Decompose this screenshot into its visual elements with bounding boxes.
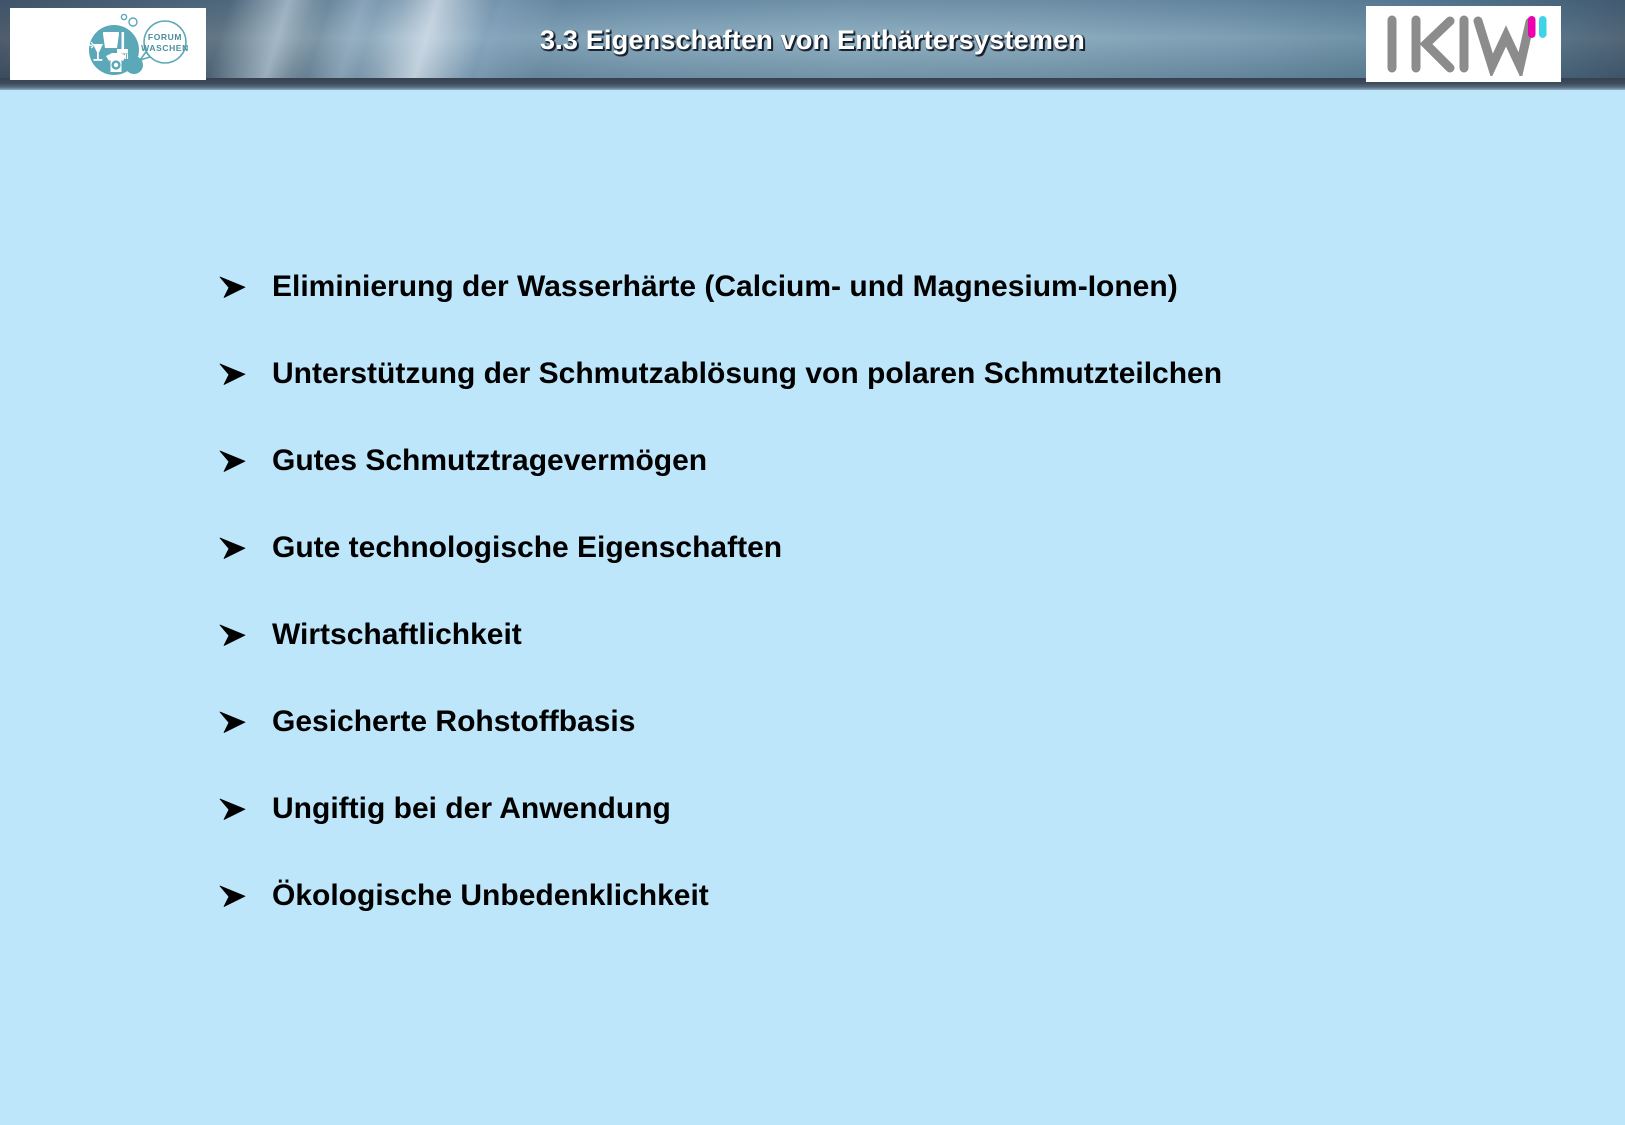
ikw-logo-icon	[1378, 12, 1550, 76]
arrowhead-bullet-icon	[218, 357, 272, 388]
arrowhead-bullet-icon	[218, 879, 272, 910]
arrowhead-bullet-icon	[218, 792, 272, 823]
list-item: Gutes Schmutztragevermögen	[218, 444, 1548, 531]
list-item: Eliminierung der Wasserhärte (Calcium- u…	[218, 270, 1548, 357]
arrowhead-bullet-icon	[218, 270, 272, 301]
arrowhead-bullet-icon	[218, 705, 272, 736]
arrowhead-bullet-icon	[218, 531, 272, 562]
list-item-label: Ökologische Unbedenklichkeit	[272, 879, 1548, 913]
list-item-label: Wirtschaftlichkeit	[272, 618, 1548, 652]
forum-waschen-line2: WASCHEN	[141, 43, 189, 53]
arrowhead-bullet-icon	[218, 618, 272, 649]
forum-waschen-logo: FORUM WASCHEN	[10, 8, 206, 80]
list-item: Ökologische Unbedenklichkeit	[218, 879, 1548, 966]
ikw-quote-cyan	[1539, 16, 1547, 38]
list-item: Ungiftig bei der Anwendung	[218, 792, 1548, 879]
list-item: Wirtschaftlichkeit	[218, 618, 1548, 705]
forum-waschen-line1: FORUM	[148, 32, 182, 42]
ikw-logo	[1366, 6, 1561, 82]
list-item: Unterstützung der Schmutzablösung von po…	[218, 357, 1548, 444]
forum-waschen-logo-icon: FORUM WASCHEN	[62, 10, 202, 78]
list-item: Gute technologische Eigenschaften	[218, 531, 1548, 618]
list-item-label: Unterstützung der Schmutzablösung von po…	[272, 357, 1548, 391]
list-item-label: Ungiftig bei der Anwendung	[272, 792, 1548, 826]
list-item-label: Gute technologische Eigenschaften	[272, 531, 1548, 565]
list-item-label: Eliminierung der Wasserhärte (Calcium- u…	[272, 270, 1548, 304]
list-item-label: Gutes Schmutztragevermögen	[272, 444, 1548, 478]
ikw-quote-magenta	[1528, 16, 1536, 38]
presentation-slide: 3.3 Eigenschaften von Enthärtersystemen …	[0, 0, 1625, 1125]
bullet-list: Eliminierung der Wasserhärte (Calcium- u…	[218, 270, 1548, 966]
list-item: Gesicherte Rohstoffbasis	[218, 705, 1548, 792]
list-item-label: Gesicherte Rohstoffbasis	[272, 705, 1548, 739]
arrowhead-bullet-icon	[218, 444, 272, 475]
